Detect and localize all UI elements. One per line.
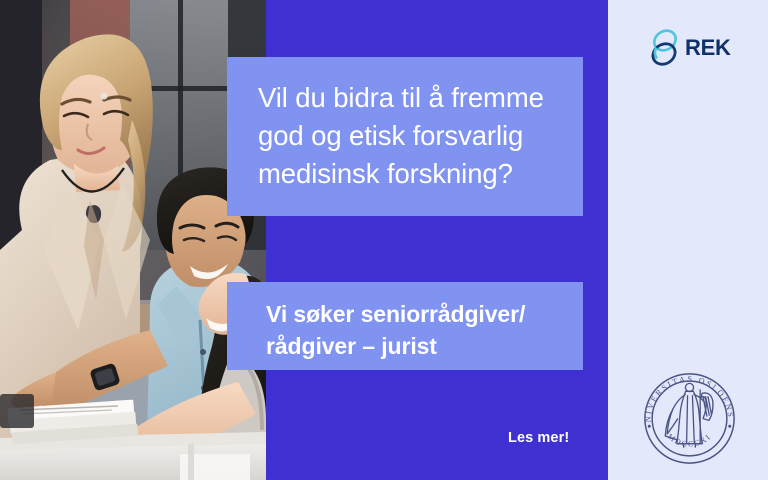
job-role-card: Vi søker seniorrådgiver/ rådgiver – juri… xyxy=(227,282,583,370)
rek-interlocking-rings-icon xyxy=(650,28,684,68)
read-more-link[interactable]: Les mer! xyxy=(508,430,569,446)
headline-card: Vil du bidra til å fremme god og etisk f… xyxy=(227,57,583,216)
uio-seal-drawing: UNIVERSITAS OSLOENSIS MDCCCXI xyxy=(641,370,738,467)
rek-wordmark: REK xyxy=(685,35,731,61)
job-role-text: Vi søker seniorrådgiver/ rådgiver – juri… xyxy=(266,298,553,362)
seal-year-text: MDCCCXI xyxy=(666,432,713,449)
headline-text: Vil du bidra til å fremme god og etisk f… xyxy=(258,79,553,193)
job-ad-banner: Vil du bidra til å fremme god og etisk f… xyxy=(0,0,768,480)
uio-apollo-seal-icon[interactable]: UNIVERSITAS OSLOENSIS MDCCCXI xyxy=(641,370,738,467)
rek-logo[interactable]: REK xyxy=(650,26,736,70)
